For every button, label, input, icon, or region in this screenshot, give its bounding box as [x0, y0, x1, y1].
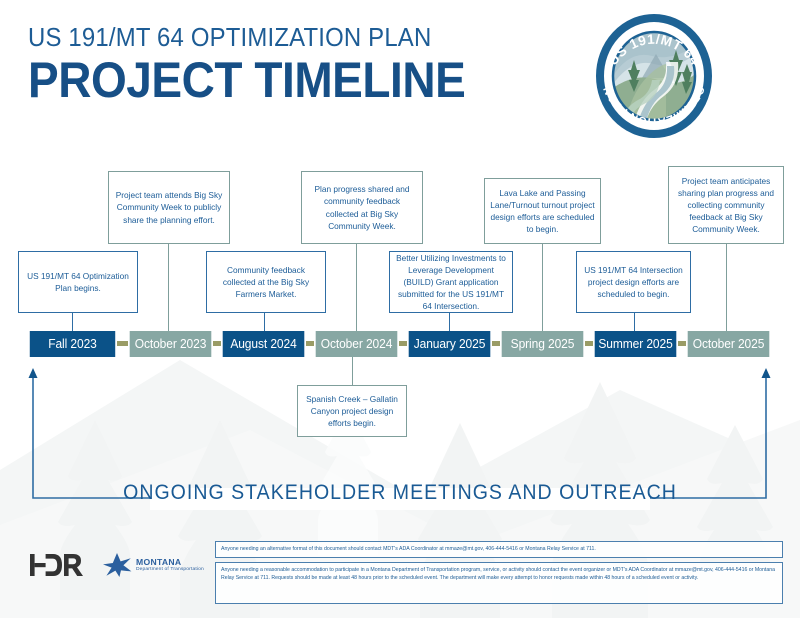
callout-leader-line [356, 244, 357, 331]
callout-leader-line [449, 313, 450, 331]
ada-accommodation-disclaimer: Anyone needing a reasonable accommodatio… [215, 562, 783, 604]
montana-star-icon [102, 552, 132, 578]
callout-plan-begins[interactable]: US 191/MT 64 Optimization Plan begins. [18, 251, 138, 313]
timeline-connector [585, 341, 593, 346]
milestone-box[interactable]: October 2025 [688, 331, 770, 357]
timeline-connector [399, 341, 407, 346]
callout-leader-line [726, 244, 727, 331]
mdt-primary-text: MONTANA [136, 558, 204, 567]
milestone-box[interactable]: January 2025 [409, 331, 491, 357]
callout-farmers-market[interactable]: Community feedback collected at the Big … [206, 251, 326, 313]
milestone-box[interactable]: October 2024 [316, 331, 398, 357]
milestone-box[interactable]: October 2023 [130, 331, 212, 357]
project-timeline-infographic: US 191/MT 64 OPTIMIZATION PLAN PROJECT T… [0, 0, 800, 618]
callout-intersection-design[interactable]: US 191/MT 64 Intersection project design… [576, 251, 691, 313]
callout-lava-lake-passing-lane[interactable]: Lava Lake and Passing Lane/Turnout turno… [484, 178, 601, 244]
timeline-connector [213, 341, 221, 346]
callout-leader-line [542, 244, 543, 331]
callout-leader-line [264, 313, 265, 331]
callout-leader-line [634, 313, 635, 331]
callout-anticipated-community-week[interactable]: Project team anticipates sharing plan pr… [668, 166, 784, 244]
callout-leader-line [168, 244, 169, 331]
ongoing-stakeholder-label: ONGOING STAKEHOLDER MEETINGS AND OUTREAC… [28, 481, 772, 505]
callout-plan-progress-shared[interactable]: Plan progress shared and community feedb… [301, 171, 423, 244]
milestone-box[interactable]: Fall 2023 [30, 331, 115, 357]
callout-build-grant[interactable]: Better Utilizing Investments to Leverage… [389, 251, 513, 313]
milestone-box[interactable]: Summer 2025 [595, 331, 677, 357]
callout-leader-line [352, 357, 353, 385]
callout-leader-line [72, 313, 73, 331]
timeline-connector [492, 341, 500, 346]
mdt-secondary-text: Department of Transportation [136, 567, 204, 572]
milestone-box[interactable]: Spring 2025 [502, 331, 584, 357]
page-header: US 191/MT 64 OPTIMIZATION PLAN PROJECT T… [28, 22, 503, 106]
page-eyebrow-title: US 191/MT 64 OPTIMIZATION PLAN [28, 22, 465, 53]
page-title: PROJECT TIMELINE [28, 55, 465, 106]
ada-format-disclaimer: Anyone needing an alternative format of … [215, 541, 783, 558]
callout-spanish-creek[interactable]: Spanish Creek – Gallatin Canyon project … [297, 385, 407, 437]
timeline-connector [678, 341, 686, 346]
timeline-connector [306, 341, 314, 346]
hdr-logo [30, 552, 88, 578]
timeline-connector [117, 341, 128, 346]
project-seal-badge: US 191/MT 64 OPTIMIZATION PLAN [596, 14, 712, 138]
footer-logos: MONTANA Department of Transportation [30, 552, 204, 578]
mdt-logo: MONTANA Department of Transportation [102, 552, 204, 578]
milestone-box[interactable]: August 2024 [223, 331, 305, 357]
callout-big-sky-community-week-2023[interactable]: Project team attends Big Sky Community W… [108, 171, 230, 244]
